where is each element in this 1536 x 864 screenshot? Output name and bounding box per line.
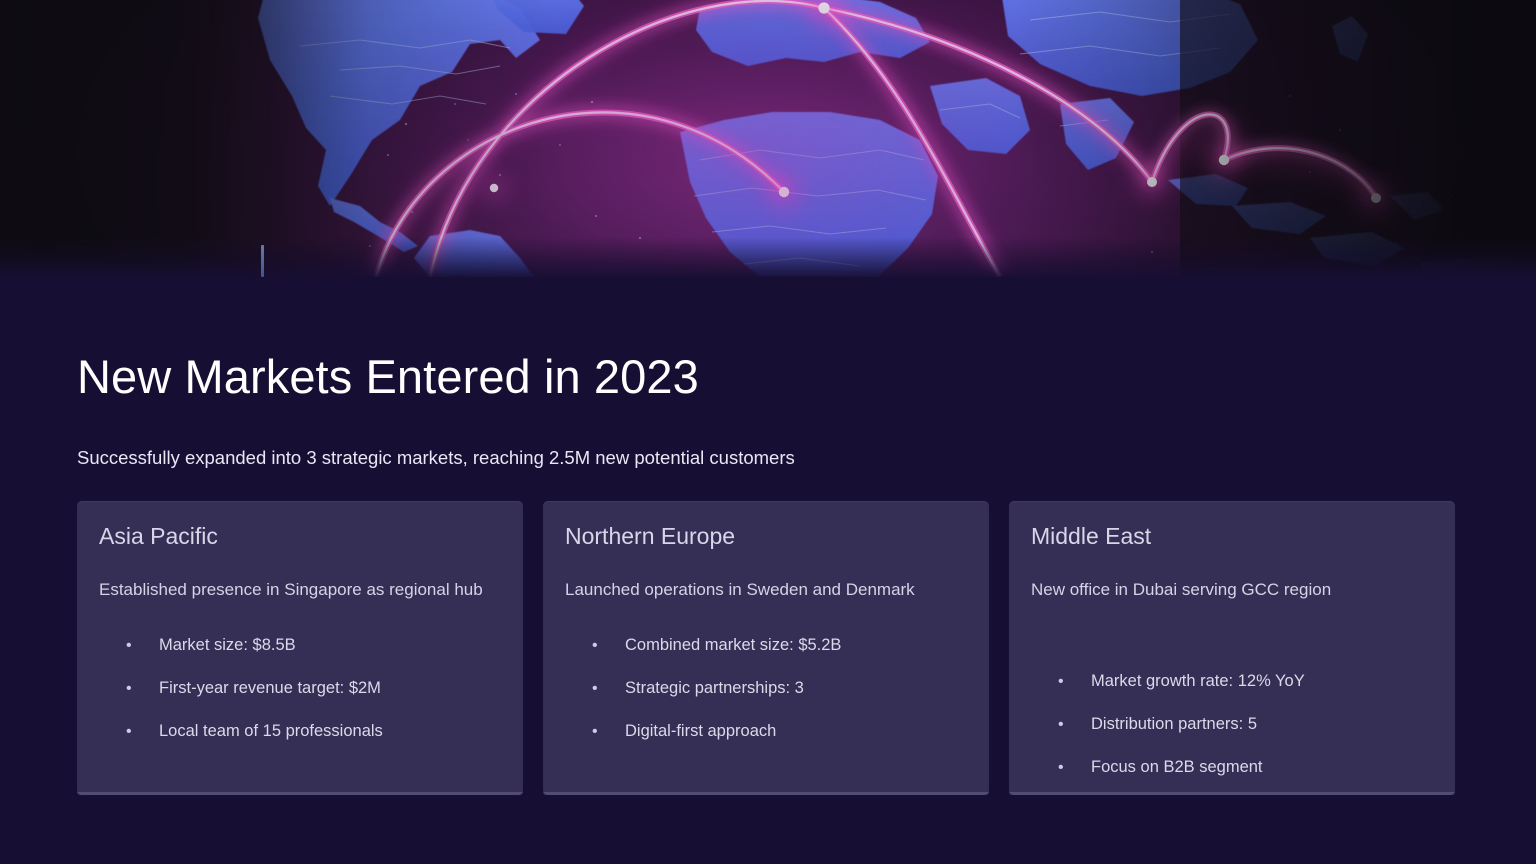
bullet-dot-icon: • [126,667,132,710]
hero-world-map-image [0,0,1536,277]
bullet-dot-icon: • [1058,660,1064,703]
card-title: Northern Europe [565,525,967,548]
page-subtitle: Successfully expanded into 3 strategic m… [77,447,795,469]
card-title: Middle East [1031,525,1433,548]
card-description: New office in Dubai serving GCC region [1031,572,1423,644]
list-item-label: Local team of 15 professionals [159,722,383,740]
list-item: • First-year revenue target: $2M [99,667,501,710]
bullet-dot-icon: • [592,710,598,753]
list-item-label: Combined market size: $5.2B [625,636,841,654]
list-item: • Combined market size: $5.2B [565,624,967,667]
list-item: • Strategic partnerships: 3 [565,667,967,710]
list-item: • Focus on B2B segment [1031,746,1433,789]
bullet-dot-icon: • [126,710,132,753]
card-description: Launched operations in Sweden and Denmar… [565,572,957,608]
content-area: New Markets Entered in 2023 Successfully… [0,277,1536,864]
card-bullet-list: • Market size: $8.5B • First-year revenu… [99,624,501,753]
list-item: • Market size: $8.5B [99,624,501,667]
market-cards-row: Asia Pacific Established presence in Sin… [77,501,1459,795]
bullet-dot-icon: • [592,624,598,667]
list-item: • Digital-first approach [565,710,967,753]
bullet-dot-icon: • [1058,746,1064,789]
market-card-northern-europe[interactable]: Northern Europe Launched operations in S… [543,501,989,795]
bullet-dot-icon: • [592,667,598,710]
list-item: • Distribution partners: 5 [1031,703,1433,746]
page-title: New Markets Entered in 2023 [77,349,699,404]
bullet-dot-icon: • [1058,703,1064,746]
market-card-asia-pacific[interactable]: Asia Pacific Established presence in Sin… [77,501,523,795]
list-item-label: First-year revenue target: $2M [159,679,381,697]
slide-root: New Markets Entered in 2023 Successfully… [0,0,1536,864]
list-item-label: Market size: $8.5B [159,636,296,654]
text-cursor-tick [261,245,264,277]
card-title: Asia Pacific [99,525,501,548]
card-bullet-list: • Combined market size: $5.2B • Strategi… [565,624,967,753]
list-item-label: Digital-first approach [625,722,776,740]
market-card-middle-east[interactable]: Middle East New office in Dubai serving … [1009,501,1455,795]
bullet-dot-icon: • [126,624,132,667]
list-item-label: Market growth rate: 12% YoY [1091,672,1305,690]
world-map-svg [0,0,1536,277]
list-item-label: Distribution partners: 5 [1091,715,1257,733]
card-bullet-list: • Market growth rate: 12% YoY • Distribu… [1031,660,1433,789]
list-item-label: Focus on B2B segment [1091,758,1263,776]
list-item: • Local team of 15 professionals [99,710,501,753]
list-item: • Market growth rate: 12% YoY [1031,660,1433,703]
list-item-label: Strategic partnerships: 3 [625,679,804,697]
card-description: Established presence in Singapore as reg… [99,572,491,608]
